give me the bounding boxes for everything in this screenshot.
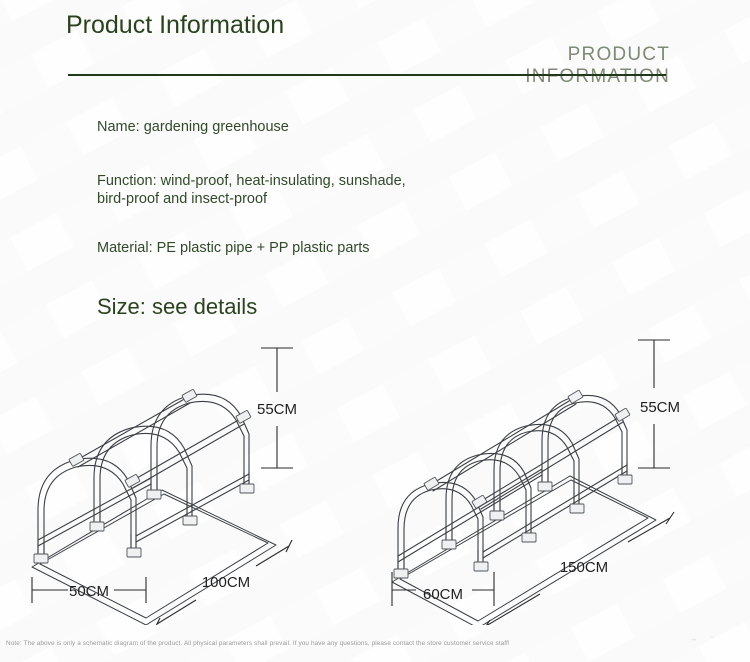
page-title: Product Information [66,12,286,39]
spec-function: Function: wind-proof, heat-insulating, s… [97,172,477,208]
legs [38,472,249,563]
dimension-width-label: 60CM [423,586,463,603]
dimension-depth-label: 100CM [202,574,250,591]
product-information-page: Product Information PRODUCT INFORMATION … [0,0,750,662]
ridge-rail-left [430,398,576,491]
footer-disclaimer: Note: The above is only a schematic diag… [6,640,510,647]
greenhouse-frame-small-svg: 55CM 50CM 100CM [18,330,338,625]
spec-name: Name: gardening greenhouse [97,118,289,136]
dimension-height-label: 55CM [640,399,680,416]
greenhouse-diagram-large: 55CM 60CM 150CM [380,330,720,625]
page-header: Product Information PRODUCT INFORMATION [0,0,750,80]
base-frame-outer [32,490,276,625]
corner-watermark [682,630,722,646]
dimension-height-label: 55CM [257,401,297,418]
size-heading: Size: see details [97,294,257,320]
hoop-front [38,458,136,562]
page-subtitle: PRODUCT INFORMATION [430,44,670,88]
spec-material: Material: PE plastic pipe + PP plastic p… [97,239,370,257]
eave-rail-left [398,469,542,562]
ridge-rail-left [75,397,190,467]
dimension-width-label: 50CM [69,583,109,600]
header-divider [68,74,666,76]
greenhouse-diagram-small: 55CM 50CM 100CM [18,330,338,625]
dimension-depth-label: 150CM [560,559,608,576]
greenhouse-frame-large-svg: 55CM 60CM 150CM [380,330,720,625]
connector-fittings [34,389,254,563]
